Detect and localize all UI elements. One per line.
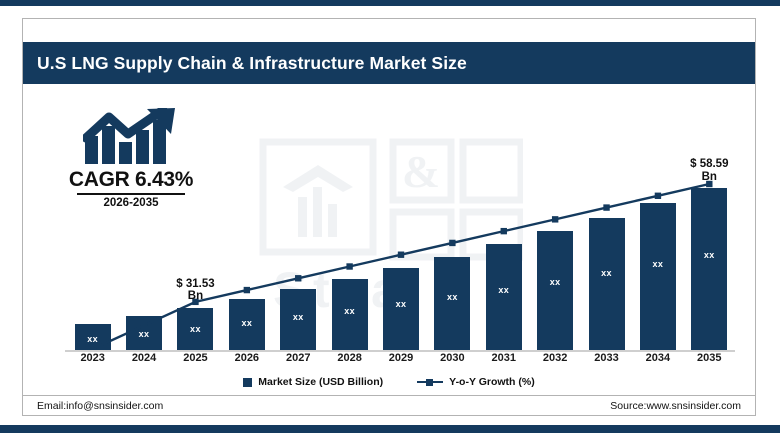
legend-item-market-size[interactable]: Market Size (USD Billion) bbox=[243, 376, 383, 388]
x-axis-tick-2026: 2026 bbox=[221, 352, 272, 364]
x-axis-tick-2029: 2029 bbox=[375, 352, 426, 364]
x-axis-tick-2033: 2033 bbox=[581, 352, 632, 364]
legend-item-yoy-growth[interactable]: Y-o-Y Growth (%) bbox=[417, 376, 535, 388]
x-axis-tick-2032: 2032 bbox=[529, 352, 580, 364]
footer-source: Source:www.snsinsider.com bbox=[610, 400, 741, 412]
card-footer: Email:info@snsinsider.com Source:www.sns… bbox=[23, 395, 755, 416]
top-accent-strip bbox=[0, 0, 780, 6]
page-title: U.S LNG Supply Chain & Infrastructure Ma… bbox=[23, 53, 467, 74]
footer-email: Email:info@snsinsider.com bbox=[37, 400, 163, 412]
chart-card: U.S LNG Supply Chain & Infrastructure Ma… bbox=[22, 18, 756, 416]
callout-label-2025: $ 31.53 Bn bbox=[155, 278, 235, 303]
legend-square-icon bbox=[243, 378, 252, 387]
x-axis-tick-2024: 2024 bbox=[118, 352, 169, 364]
x-axis-tick-2034: 2034 bbox=[632, 352, 683, 364]
legend-label-market-size: Market Size (USD Billion) bbox=[258, 376, 383, 388]
callout-label-2035: $ 58.59 Bn bbox=[669, 158, 749, 183]
chart-legend: Market Size (USD Billion) Y-o-Y Growth (… bbox=[23, 376, 755, 388]
legend-label-yoy-growth: Y-o-Y Growth (%) bbox=[449, 376, 535, 388]
x-axis-tick-2031: 2031 bbox=[478, 352, 529, 364]
bottom-accent-strip bbox=[0, 425, 780, 433]
legend-line-marker-icon bbox=[417, 377, 443, 387]
callout-labels-layer: $ 31.53 Bn$ 58.59 Bn bbox=[23, 84, 755, 352]
chart-header-bar: U.S LNG Supply Chain & Infrastructure Ma… bbox=[23, 42, 755, 84]
x-axis-tick-2028: 2028 bbox=[324, 352, 375, 364]
plot-area: & S t r a CAGR 6.43% 2026-2035 xxxx bbox=[23, 84, 755, 352]
x-axis-tick-2025: 2025 bbox=[170, 352, 221, 364]
x-axis-tick-2030: 2030 bbox=[427, 352, 478, 364]
x-axis-tick-2023: 2023 bbox=[67, 352, 118, 364]
x-axis-labels: 2023202420252026202720282029203020312032… bbox=[23, 352, 755, 374]
x-axis-tick-2027: 2027 bbox=[273, 352, 324, 364]
x-axis-tick-2035: 2035 bbox=[684, 352, 735, 364]
